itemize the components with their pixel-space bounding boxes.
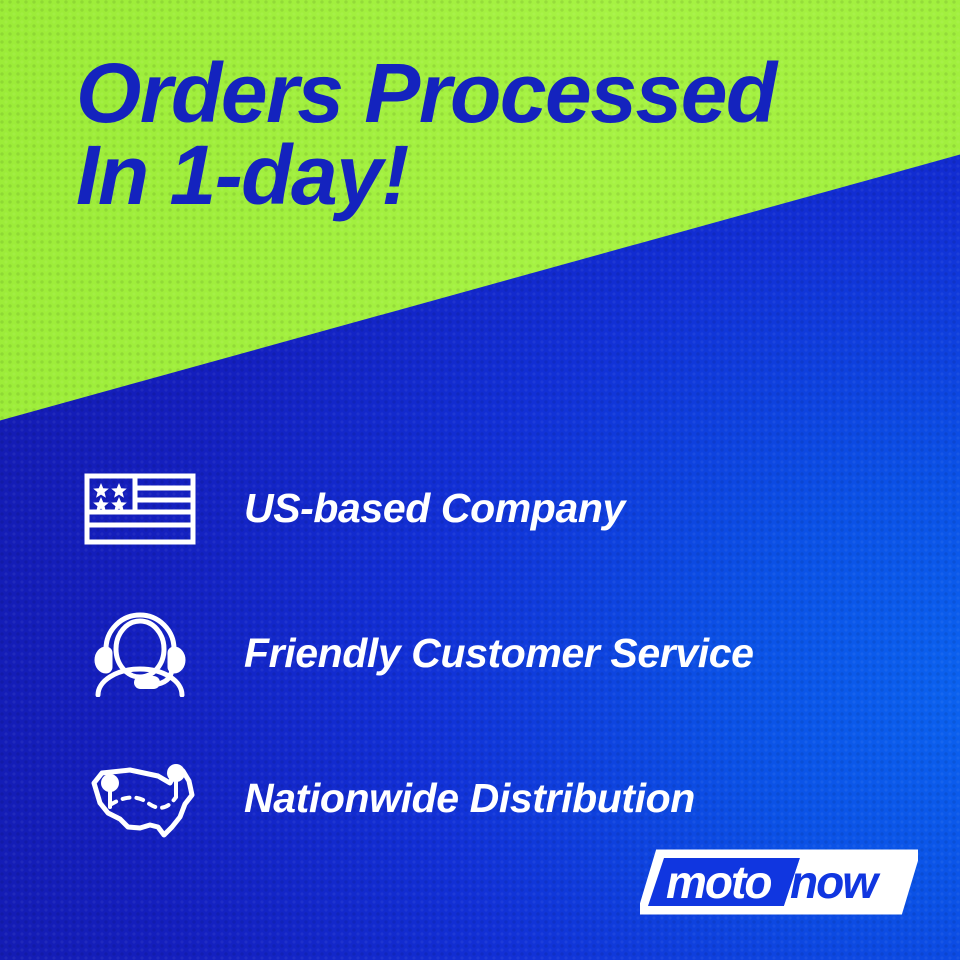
feature-item-customer-service: Friendly Customer Service: [76, 581, 936, 726]
headline: Orders Processed In 1-day!: [76, 52, 916, 217]
feature-list: US-based Company Friendly Customer Servi…: [76, 436, 936, 871]
feature-label: Nationwide Distribution: [244, 775, 695, 822]
feature-label: US-based Company: [244, 485, 625, 532]
us-map-route-icon: [76, 757, 206, 841]
promo-graphic: Orders Processed In 1-day!: [0, 0, 960, 960]
headset-support-icon: [76, 611, 206, 697]
logo-text-now: now: [790, 856, 881, 908]
feature-item-us-based: US-based Company: [76, 436, 936, 581]
us-flag-icon: [76, 473, 206, 545]
feature-label: Friendly Customer Service: [244, 630, 754, 677]
motonow-logo[interactable]: moto now: [640, 846, 918, 918]
logo-text-moto: moto: [666, 856, 771, 908]
